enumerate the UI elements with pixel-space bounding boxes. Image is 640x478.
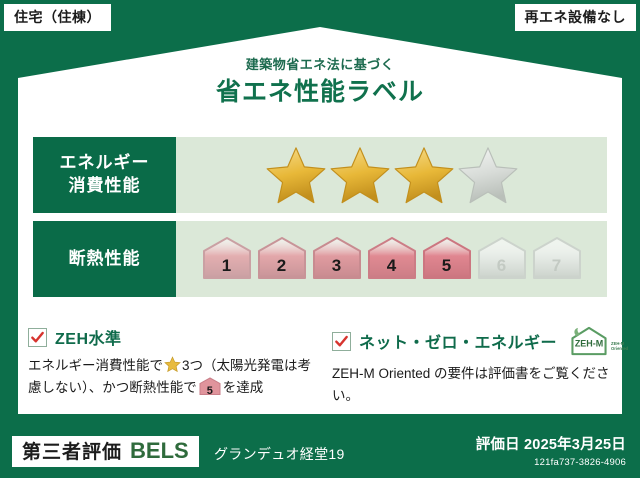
insulation-label-line1: 断熱性能 — [69, 248, 141, 271]
insulation-badge-4: 4 — [366, 236, 418, 282]
insulation-level-scale: 1234567 — [176, 221, 607, 297]
insulation-badge-2: 2 — [256, 236, 308, 282]
zeh-standard-description: エネルギー消費性能で 3つ（太陽光発電は考慮しない）、かつ断熱性能で 5 を達成 — [28, 355, 314, 400]
zeh-m-house-icon: ZEH-M — [569, 325, 609, 357]
bels-en-label: BELS — [130, 440, 189, 462]
inline-badge-number: 5 — [199, 382, 221, 400]
footer-bar: 第三者評価 BELS グランデュオ経堂19 評価日 2025年3月25日 121… — [0, 430, 640, 478]
star-empty-icon — [457, 145, 519, 205]
zeh-text-part1: エネルギー消費性能で — [28, 358, 163, 373]
star-filled-icon — [265, 145, 327, 205]
zeh-m-logo: ZEH-M ZEH-M Oriented — [569, 325, 628, 357]
zeh-m-logo-caption: ZEH-M Oriented — [611, 341, 628, 358]
evaluation-id: 121fa737-3826-4906 — [476, 457, 626, 468]
energy-label-line1: エネルギー — [60, 152, 150, 175]
net-zero-energy-heading: ネット・ゼロ・エネルギー ZEH-M ZEH-M Oriented — [332, 325, 618, 357]
insulation-performance-row: 断熱性能 1234567 — [33, 221, 607, 297]
inline-insulation-badge: 5 — [199, 377, 221, 396]
star-filled-icon — [393, 145, 455, 205]
star-filled-icon — [329, 145, 391, 205]
title-subtitle: 建築物省エネ法に基づく — [0, 57, 640, 73]
insulation-performance-label: 断熱性能 — [33, 221, 176, 297]
criteria-section: ZEH水準 エネルギー消費性能で 3つ（太陽光発電は考慮しない）、かつ断熱性能で… — [28, 325, 618, 408]
insulation-badge-5: 5 — [421, 236, 473, 282]
evaluation-date: 評価日 2025年3月25日 — [476, 437, 626, 454]
net-zero-energy-description: ZEH-M Oriented の要件は評価書をご覧ください。 — [332, 363, 618, 408]
energy-performance-label: エネルギー 消費性能 — [33, 137, 176, 213]
energy-performance-row: エネルギー 消費性能 — [33, 137, 607, 213]
insulation-badge-1: 1 — [201, 236, 253, 282]
energy-label-line2: 消費性能 — [69, 175, 141, 198]
zeh-standard-title: ZEH水準 — [55, 325, 122, 349]
page-title: 省エネ性能ラベル — [0, 78, 640, 107]
energy-performance-label: 住宅（住棟） 再エネ設備なし 建築物省エネ法に基づく 省エネ性能ラベル エネルギ… — [0, 0, 640, 478]
check-icon — [30, 330, 45, 345]
energy-star-rating — [176, 137, 607, 213]
check-icon — [334, 334, 349, 349]
building-type-tag: 住宅（住棟） — [4, 4, 111, 31]
svg-text:ZEH-M: ZEH-M — [575, 339, 603, 349]
zeh-standard-heading: ZEH水準 — [28, 325, 314, 349]
renewable-equipment-tag: 再エネ設備なし — [515, 4, 637, 31]
insulation-badge-3: 3 — [311, 236, 363, 282]
net-zero-energy-block: ネット・ゼロ・エネルギー ZEH-M ZEH-M Oriented — [332, 325, 618, 408]
net-zero-energy-title: ネット・ゼロ・エネルギー — [359, 329, 557, 353]
zeh-m-caption-line1: ZEH-M — [611, 341, 624, 346]
checkbox-zeh-standard[interactable] — [28, 328, 47, 347]
zeh-standard-block: ZEH水準 エネルギー消費性能で 3つ（太陽光発電は考慮しない）、かつ断熱性能で… — [28, 325, 314, 408]
insulation-badge-7: 7 — [531, 236, 583, 282]
zeh-m-caption-line2: Oriented — [611, 346, 628, 351]
insulation-badge-6: 6 — [476, 236, 528, 282]
insulation-badge-strip: 1234567 — [201, 236, 583, 282]
property-name: グランデュオ経堂19 — [214, 444, 345, 464]
bels-badge: 第三者評価 BELS — [12, 436, 199, 467]
zeh-text-part3: を達成 — [223, 380, 264, 395]
star-gold-icon — [164, 356, 181, 373]
title-block: 建築物省エネ法に基づく 省エネ性能ラベル — [0, 57, 640, 106]
evaluation-info: 評価日 2025年3月25日 121fa737-3826-4906 — [476, 437, 626, 469]
bels-jp-label: 第三者評価 — [22, 443, 122, 462]
checkbox-net-zero-energy[interactable] — [332, 332, 351, 351]
performance-rows: エネルギー 消費性能 断熱性能 1234567 — [33, 137, 607, 305]
